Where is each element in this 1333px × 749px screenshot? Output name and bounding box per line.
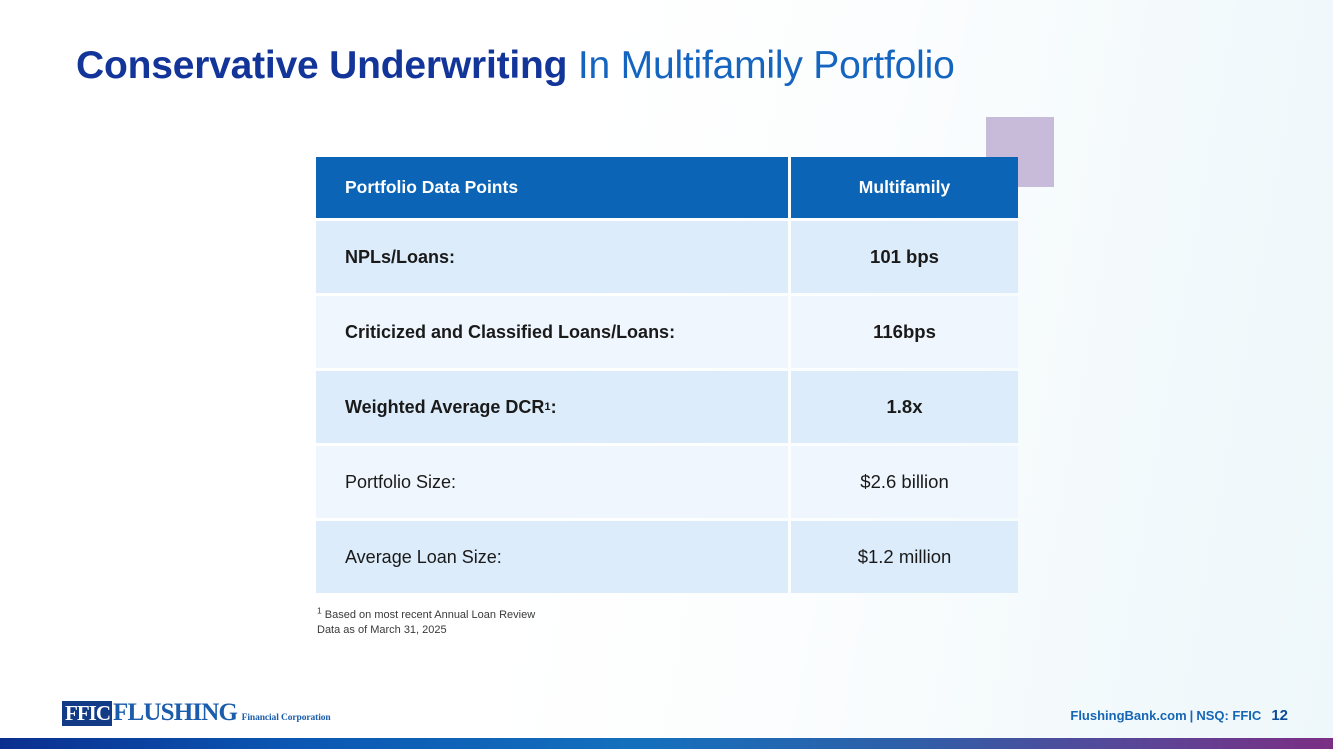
table-header-cell-metric: Portfolio Data Points [316,157,788,218]
row-value: 101 bps [791,221,1018,293]
row-label: Portfolio Size: [316,446,788,518]
footnote-line-1: 1 Based on most recent Annual Loan Revie… [317,608,535,623]
row-value: 1.8x [791,371,1018,443]
page-title: Conservative Underwriting In Multifamily… [76,42,955,90]
footnote-text: Based on most recent Annual Loan Review [322,609,535,621]
ffic-badge: FFIC [62,701,112,726]
table-row: Criticized and Classified Loans/Loans: 1… [316,296,1018,368]
footer-right: FlushingBank.com|NSQ: FFIC12 [1070,707,1288,724]
row-label: Weighted Average DCR1: [316,371,788,443]
logo-wordmark: FLUSHING Financial Corporation [113,701,331,725]
row-value: $2.6 billion [791,446,1018,518]
row-label-text: Weighted Average DCR [345,397,544,418]
bottom-accent-bar [0,738,1333,749]
table-header-row: Portfolio Data Points Multifamily [316,157,1018,218]
page-title-light: In Multifamily Portfolio [567,44,954,87]
page-title-strong: Conservative Underwriting [76,44,567,87]
logo-subtitle: Financial Corporation [242,713,331,723]
footnote-block: 1 Based on most recent Annual Loan Revie… [317,608,535,638]
slide-canvas: Conservative Underwriting In Multifamily… [0,0,1333,749]
logo-name: FLUSHING [113,699,237,726]
row-value: 116bps [791,296,1018,368]
table-row: Portfolio Size: $2.6 billion [316,446,1018,518]
footer-website[interactable]: FlushingBank.com [1070,708,1186,723]
table-row: Average Loan Size: $1.2 million [316,521,1018,593]
table-header-cell-multifamily: Multifamily [791,157,1018,218]
footer-ticker: NSQ: FFIC [1196,708,1261,723]
footnote-line-2: Data as of March 31, 2025 [317,623,535,638]
page-number: 12 [1261,707,1288,724]
row-value: $1.2 million [791,521,1018,593]
portfolio-data-table: Portfolio Data Points Multifamily NPLs/L… [316,157,1018,596]
row-label: NPLs/Loans: [316,221,788,293]
footer-separator: | [1187,708,1197,723]
row-label: Average Loan Size: [316,521,788,593]
table-row: Weighted Average DCR1: 1.8x [316,371,1018,443]
row-label: Criticized and Classified Loans/Loans: [316,296,788,368]
row-label-suffix: : [551,397,557,418]
flushing-financial-logo: FFIC FLUSHING Financial Corporation [62,701,331,731]
table-row: NPLs/Loans: 101 bps [316,221,1018,293]
